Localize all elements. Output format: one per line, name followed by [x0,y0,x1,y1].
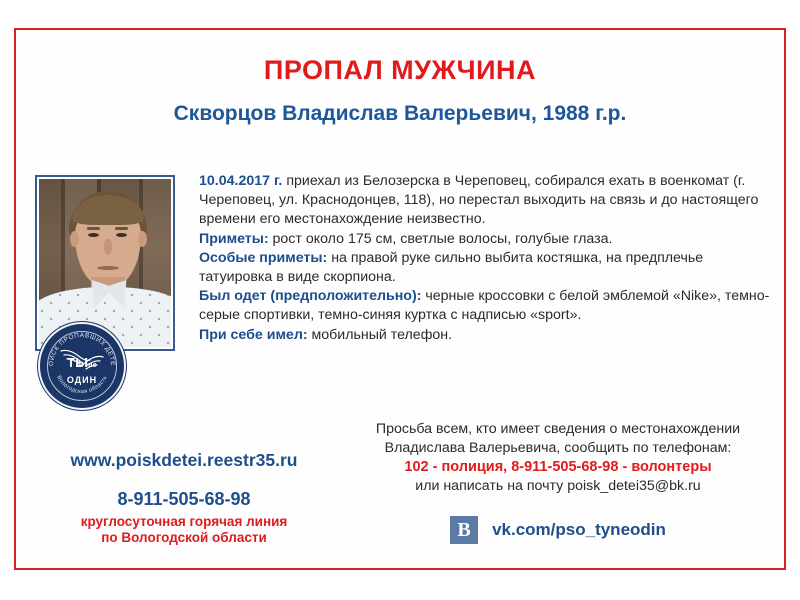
appeal-block: Просьба всем, кто имеет сведения о место… [338,420,778,496]
emblem-center-main: ТЫ [67,355,88,370]
detail-label: Особые приметы: [199,250,327,266]
detail-label: Был одет (предположительно): [199,288,421,304]
detail-row: Был одет (предположительно): черные крос… [199,287,772,325]
appeal-line-1: Просьба всем, кто имеет сведения о место… [338,420,778,439]
appeal-line-2: Владислава Валерьевича, сообщить по теле… [338,439,778,458]
detail-row: Особые приметы: на правой руке сильно вы… [199,249,772,287]
detail-value: мобильный телефон. [308,327,452,343]
photo-mouth [97,266,119,270]
photo-eye-right [116,233,127,237]
detail-row: Приметы: рост около 175 см, светлые воло… [199,230,772,249]
photo-ear-left [70,231,79,247]
detail-label: Приметы: [199,231,269,247]
hotline-phone-number[interactable]: 8-911-505-68-98 [34,489,334,510]
emblem-center-text: ТЫне ОДИН [40,357,124,386]
incident-date: 10.04.2017 г. [199,173,282,189]
detail-value: рост около 175 см, светлые волосы, голуб… [269,231,613,247]
detail-label: При себе имел: [199,327,308,343]
hotline-label-line1: круглосуточная горячая линия [81,514,288,529]
hotline-label-line2: по Вологодской области [101,530,267,545]
incident-text: приехал из Белозерска в Череповец, собир… [199,173,758,227]
appeal-email-line[interactable]: или написать на почту poisk_detei35@bk.r… [338,477,778,496]
website-link[interactable]: www.poiskdetei.reestr35.ru [34,450,334,471]
photo-nose [104,239,112,255]
detail-row: При себе имел: мобильный телефон. [199,326,772,345]
photo-image [39,179,171,347]
page-title: ПРОПАЛ МУЖЧИНА [16,55,784,86]
vk-icon[interactable]: В [450,516,478,544]
description-block: 10.04.2017 г. приехал из Белозерска в Че… [199,172,772,345]
subject-name: Скворцов Владислав Валерьевич, 1988 г.р. [16,102,784,126]
emergency-phone-numbers[interactable]: 102 - полиция, 8-911-505-68-98 - волонте… [338,458,778,477]
photo-eyebrow-right [115,227,128,230]
incident-paragraph: 10.04.2017 г. приехал из Белозерска в Че… [199,172,772,230]
photo-ear-right [138,231,147,247]
photo-eye-left [88,233,99,237]
vk-link[interactable]: vk.com/pso_tyneodin [492,520,666,540]
emblem-center-bottom: ОДИН [40,374,124,386]
poster-frame: ПРОПАЛ МУЖЧИНА Скворцов Владислав Валерь… [14,28,786,570]
emblem-center-small: не [88,362,97,369]
vk-row[interactable]: В vk.com/pso_tyneodin [338,516,778,544]
organization-emblem-icon: ПОИСК ПРОПАВШИХ ДЕТЕЙ Вологодская област… [38,322,126,410]
hotline-label: круглосуточная горячая линия по Вологодс… [34,514,334,546]
photo-eyebrow-left [87,227,100,230]
